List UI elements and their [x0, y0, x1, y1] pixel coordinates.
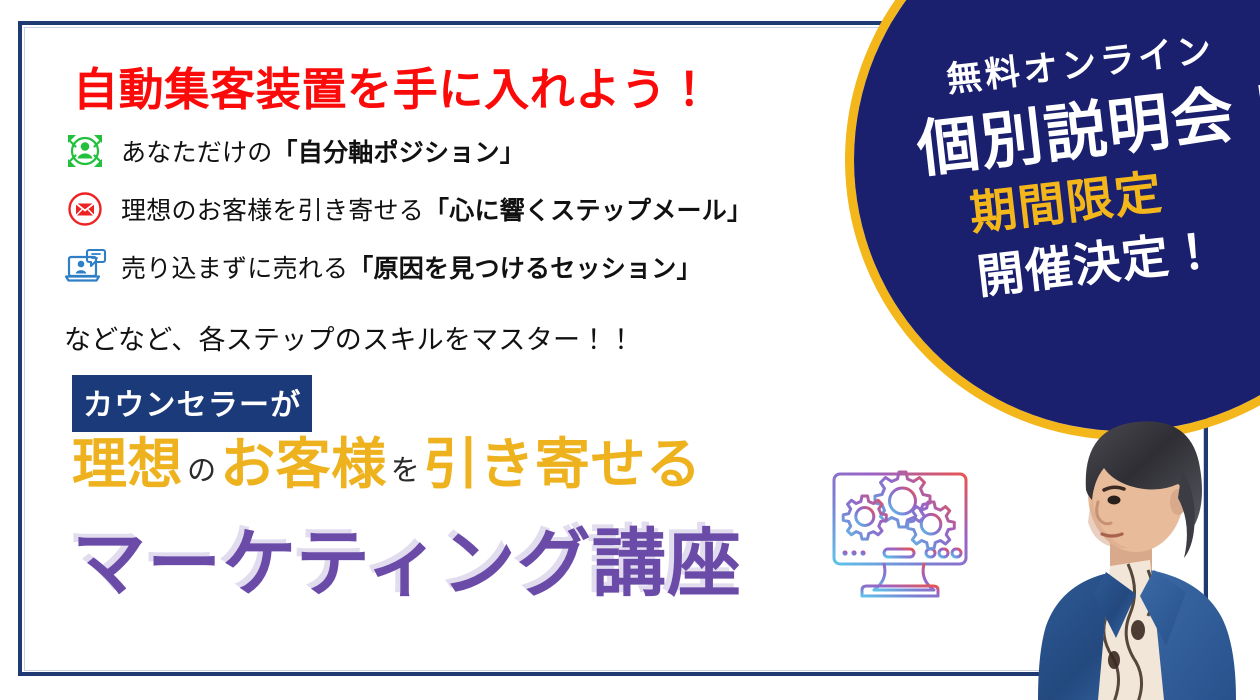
- monitor-gears-icon: [824, 460, 984, 610]
- list-item: 理想のお客様を引き寄せる「心に響くステップメール」: [62, 180, 752, 238]
- subtitle-part-2: お客様: [220, 433, 387, 495]
- etc-note: などなど、各ステップのスキルをマスター！！: [64, 318, 635, 357]
- laptop-consultation-icon: [62, 244, 108, 290]
- subtitle-part-3: 引き寄せる: [424, 433, 702, 495]
- list-item-label: 理想のお客様を引き寄せる「心に響くステップメール」: [121, 191, 752, 227]
- course-title: マーケティング講座: [72, 521, 742, 606]
- status-badge: 無料オンライン 個別説明会！ 期間限定 開催決定！: [845, 0, 1260, 440]
- list-item-label: 売り込まずに売れる「原因を見つけるセッション」: [121, 249, 702, 285]
- subtitle-yellow: 理想のお客様を引き寄せる: [72, 437, 702, 492]
- audience-tag-badge: カウンセラーが: [72, 375, 312, 432]
- marketing-seminar-banner: 自動集客装置を手に入れよう！ あなただけ: [0, 0, 1260, 700]
- mail-circle-icon: [62, 186, 108, 232]
- subtitle-particle-1: の: [183, 455, 220, 487]
- list-item-label: あなただけの「自分軸ポジション」: [121, 133, 525, 169]
- presenter-photo: [1032, 398, 1260, 700]
- subtitle-part-1: 理想: [72, 433, 183, 495]
- list-item: 売り込まずに売れる「原因を見つけるセッション」: [62, 238, 752, 296]
- target-person-icon: [62, 128, 108, 174]
- subtitle-particle-2: を: [387, 455, 424, 487]
- page-title: 自動集客装置を手に入れよう！: [73, 53, 712, 118]
- benefits-list: あなただけの「自分軸ポジション」 理想のお客様を引き寄せる「心に響くステップメー…: [62, 122, 752, 296]
- list-item: あなただけの「自分軸ポジション」: [62, 122, 752, 180]
